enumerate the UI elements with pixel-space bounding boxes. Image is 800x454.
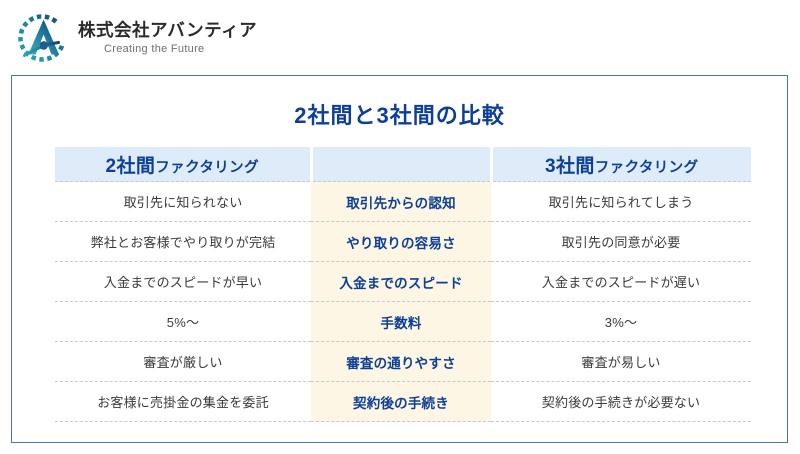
cell-criteria: 審査の通りやすさ: [311, 342, 491, 382]
cell-two-party: お客様に売掛金の集金を委託: [55, 382, 311, 422]
column-header-two-party-small: ファクタリング: [155, 160, 259, 176]
cell-three-party: 審査が易しい: [491, 342, 751, 382]
cell-three-party: 3%〜: [491, 302, 751, 342]
cell-criteria: やり取りの容易さ: [311, 222, 491, 262]
column-header-two-party-big: 2社間: [105, 156, 155, 177]
column-header-three-party: 3社間ファクタリング: [491, 147, 751, 182]
table-row: 審査が厳しい 審査の通りやすさ 審査が易しい: [55, 342, 751, 382]
cell-two-party: 弊社とお客様でやり取りが完結: [55, 222, 311, 262]
table-row: 弊社とお客様でやり取りが完結 やり取りの容易さ 取引先の同意が必要: [55, 222, 751, 262]
cell-three-party: 取引先の同意が必要: [491, 222, 751, 262]
cell-criteria: 取引先からの認知: [311, 182, 491, 222]
company-tagline: Creating the Future: [104, 43, 257, 56]
brand-header: 株式会社アバンティア Creating the Future: [0, 0, 800, 75]
cell-two-party: 取引先に知られない: [55, 182, 311, 222]
table-body: 取引先に知られない 取引先からの認知 取引先に知られてしまう 弊社とお客様でやり…: [55, 182, 751, 422]
table-row: 取引先に知られない 取引先からの認知 取引先に知られてしまう: [55, 182, 751, 222]
table-row: 5%〜 手数料 3%〜: [55, 302, 751, 342]
comparison-slide-card: 2社間と3社間の比較 2社間ファクタリング 3社間ファクタリング 取引先に知られ…: [11, 75, 788, 443]
column-header-three-party-big: 3社間: [545, 156, 595, 177]
cell-criteria: 手数料: [311, 302, 491, 342]
company-name: 株式会社アバンティア: [78, 20, 257, 40]
cell-two-party: 5%〜: [55, 302, 311, 342]
cell-three-party: 入金までのスピードが遅い: [491, 262, 751, 302]
table-row: 入金までのスピードが早い 入金までのスピード 入金までのスピードが遅い: [55, 262, 751, 302]
page-title: 2社間と3社間の比較: [12, 98, 787, 130]
comparison-table: 2社間ファクタリング 3社間ファクタリング 取引先に知られない 取引先からの認知…: [55, 147, 751, 422]
avantier-arc-peak-logo-icon: [14, 10, 70, 66]
brand-text-block: 株式会社アバンティア Creating the Future: [78, 18, 257, 56]
column-header-three-party-small: ファクタリング: [595, 160, 699, 176]
table-row: お客様に売掛金の集金を委託 契約後の手続き 契約後の手続きが必要ない: [55, 382, 751, 422]
cell-three-party: 契約後の手続きが必要ない: [491, 382, 751, 422]
cell-criteria: 入金までのスピード: [311, 262, 491, 302]
cell-two-party: 審査が厳しい: [55, 342, 311, 382]
column-header-two-party: 2社間ファクタリング: [55, 147, 311, 182]
cell-two-party: 入金までのスピードが早い: [55, 262, 311, 302]
table-header-row: 2社間ファクタリング 3社間ファクタリング: [55, 147, 751, 182]
column-header-criteria: [311, 147, 491, 182]
cell-criteria: 契約後の手続き: [311, 382, 491, 422]
cell-three-party: 取引先に知られてしまう: [491, 182, 751, 222]
